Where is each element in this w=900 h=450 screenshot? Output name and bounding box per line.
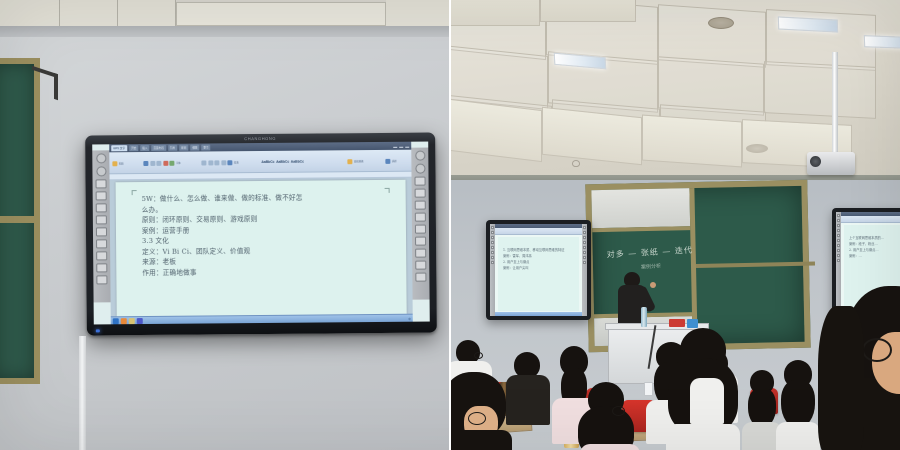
ime-indicator[interactable]: 中	[408, 316, 410, 320]
bullet-list-icon[interactable]	[201, 160, 206, 165]
browser-icon[interactable]	[121, 318, 127, 324]
rail-button-note-icon[interactable]	[96, 191, 107, 200]
rail2-button-home-icon[interactable]	[415, 164, 425, 174]
rail2-button-select-icon[interactable]	[415, 225, 426, 234]
panel-divider	[449, 0, 451, 450]
rail2-button-undo-icon[interactable]	[415, 249, 426, 258]
wps-office-window[interactable]: WPS 文字 开始 插入 页面布局 引用 审阅 视图 章节	[109, 142, 413, 325]
display-brand-logo: CHANGHONG	[244, 135, 276, 140]
ws-l-btn2-icon[interactable]	[583, 261, 586, 264]
close-icon[interactable]	[405, 146, 409, 147]
bold-icon[interactable]	[150, 160, 155, 165]
projector-lens-icon	[810, 156, 821, 167]
tab-view[interactable]: 视图	[190, 145, 199, 151]
screen-right-toolrail[interactable]	[411, 148, 429, 300]
water-bottle	[641, 307, 647, 327]
blue-box	[687, 319, 698, 328]
document-scroll-area[interactable]: 5W：做什么、怎么做、谁来做、做的标准、做不好怎 么办。 原则：闭环原则、交易原…	[110, 178, 413, 317]
highlight-icon[interactable]	[169, 160, 174, 165]
rail-button-save-icon[interactable]	[96, 239, 107, 248]
start-icon[interactable]	[113, 318, 119, 324]
security-camera-icon	[572, 160, 580, 167]
tab-page-layout[interactable]: 页面布局	[151, 145, 165, 151]
chalk-writing-line-1: 对多 — 张纸 — 迭代	[606, 245, 693, 261]
ribbon-group-select-label: 选择	[392, 159, 397, 163]
tab-insert[interactable]: 插入	[140, 145, 149, 151]
student	[690, 358, 724, 424]
margin-mark-topleft-icon	[132, 190, 137, 195]
chalk-writing-line-2: 案例分析	[641, 262, 661, 270]
ceiling-left	[0, 0, 450, 36]
rail2-button-close-icon[interactable]	[415, 273, 426, 282]
margin-mark-topright-icon	[385, 188, 390, 193]
ws-l-ribbon[interactable]	[495, 228, 582, 235]
ws-l-btn-icon[interactable]	[491, 236, 494, 239]
rail2-button-pen-icon[interactable]	[415, 177, 426, 186]
left-photo-panel: CHANGHONG	[0, 0, 450, 450]
rail2-button-shape-icon[interactable]	[415, 213, 426, 222]
ws-l-doc-line: 案例：让用户尖叫	[503, 265, 574, 271]
ws-l-btn-icon[interactable]	[491, 226, 494, 229]
rail2-button-note-icon[interactable]	[415, 189, 426, 198]
ws-l-btn-icon[interactable]	[491, 231, 494, 234]
wps-icon[interactable]	[137, 318, 143, 324]
glasses-icon	[862, 338, 892, 362]
document-page[interactable]: 5W：做什么、怎么做、谁来做、做的标准、做不好怎 么办。 原则：闭环原则、交易原…	[116, 180, 407, 317]
ws-l-btn2-icon[interactable]	[583, 256, 586, 259]
student	[508, 352, 552, 422]
ws-r-btn-icon[interactable]	[837, 219, 840, 222]
ws-r-btn-icon[interactable]	[837, 214, 840, 217]
right-photo-panel: 对多 — 张纸 — 迭代 案例分析	[450, 0, 900, 450]
wall-screen-left-rail2[interactable]	[582, 224, 587, 316]
student	[774, 360, 820, 450]
rail-button-shape-icon[interactable]	[96, 215, 107, 224]
rail-button-redo-icon[interactable]	[96, 263, 107, 272]
rail2-button-eraser-icon[interactable]	[415, 201, 426, 210]
ribbon-group-font-label: 字体	[176, 161, 181, 165]
window-controls[interactable]	[393, 144, 409, 147]
find-replace-icon[interactable]	[347, 159, 352, 164]
ceiling-vent-icon	[746, 144, 768, 153]
ceiling-tile-strip	[176, 2, 386, 26]
board-upper-white-panel	[591, 188, 690, 232]
ws-l-document: 1. 互联网思维本质、移动互联网思维的特征 案例：雷军、周鸿祎 2. 用户至上与…	[498, 237, 579, 311]
ws-l-btn-icon[interactable]	[491, 256, 494, 259]
instructor-hand	[650, 282, 656, 288]
ws-l-btn2-icon[interactable]	[583, 241, 586, 244]
ws-r-btn-icon[interactable]	[837, 259, 840, 262]
rail2-button-menu-icon[interactable]	[415, 151, 425, 161]
student	[574, 382, 640, 450]
wall-screen-left[interactable]: 1. 互联网思维本质、移动互联网思维的特征 案例：雷军、周鸿祎 2. 用户至上与…	[486, 220, 591, 320]
ws-l-btn-icon[interactable]	[491, 251, 494, 254]
ws-l-taskbar[interactable]	[495, 312, 582, 316]
minimize-icon[interactable]	[393, 146, 397, 147]
ws-r-btn-icon[interactable]	[837, 249, 840, 252]
rail-button-undo-icon[interactable]	[96, 251, 107, 260]
ribbon-group-paste-label: 粘贴	[119, 161, 124, 165]
align-center-icon[interactable]	[221, 160, 226, 165]
split-photo-stage: CHANGHONG	[0, 0, 900, 450]
style-sample-0[interactable]: AaBbCc	[261, 160, 274, 164]
student-foreground	[828, 286, 900, 450]
tab-references[interactable]: 引用	[168, 145, 177, 151]
ws-r-btn-icon[interactable]	[837, 229, 840, 232]
tab-sections[interactable]: 章节	[201, 144, 210, 150]
ribbon-group-find-label: 查找替换	[354, 159, 364, 163]
rail2-button-save-icon[interactable]	[415, 237, 426, 246]
ceiling-speaker-icon	[708, 17, 734, 29]
folder-icon[interactable]	[129, 318, 135, 324]
font-icon[interactable]	[143, 160, 148, 165]
tab-start[interactable]: 开始	[129, 145, 138, 151]
rail-button-close-icon[interactable]	[96, 275, 107, 284]
ws-r-doc-line: 案例：…	[849, 253, 900, 259]
system-tray[interactable]: 中	[408, 316, 410, 320]
screen-left-toolrail[interactable]	[92, 150, 110, 302]
paste-icon[interactable]	[112, 161, 117, 166]
student-foreground	[450, 372, 512, 450]
ws-l-btn2-icon[interactable]	[583, 246, 586, 249]
rail-button-menu-icon[interactable]	[96, 153, 106, 163]
ws-l-btn2-icon[interactable]	[583, 236, 586, 239]
display-screen[interactable]: WPS 文字 开始 插入 页面布局 引用 审阅 视图 章节	[92, 142, 430, 325]
rail-button-eraser-icon[interactable]	[96, 203, 107, 212]
interactive-smart-display[interactable]: CHANGHONG	[85, 132, 437, 335]
chalkboard-left-edge	[0, 58, 40, 384]
ribbon-group-paragraph-label: 段落	[234, 160, 239, 164]
board-horizontal-rail	[696, 262, 815, 268]
glasses-icon	[612, 406, 625, 416]
rail2-button-redo-icon[interactable]	[415, 261, 426, 270]
ws-r-btn-icon[interactable]	[837, 254, 840, 257]
cable-conduit	[79, 336, 86, 450]
red-box	[669, 319, 685, 327]
select-icon[interactable]	[385, 158, 390, 163]
glasses-icon	[468, 412, 486, 425]
glasses-icon	[474, 352, 483, 359]
style-sample-2[interactable]: AaBbCc	[291, 160, 304, 164]
ws-l-btn2-icon[interactable]	[583, 231, 586, 234]
maximize-icon[interactable]	[399, 146, 403, 147]
ws-r-btn-icon[interactable]	[837, 234, 840, 237]
wps-ribbon[interactable]: 粘贴 字体	[109, 150, 411, 175]
ws-l-btn-icon[interactable]	[491, 261, 494, 264]
rail-button-pen-icon[interactable]	[96, 179, 107, 188]
ws-r-btn-icon[interactable]	[837, 244, 840, 247]
tab-wps-wenzi[interactable]: WPS 文字	[111, 145, 127, 151]
ws-l-btn2-icon[interactable]	[583, 251, 586, 254]
style-sample-1[interactable]: AaBbCc	[276, 160, 289, 164]
ws-r-btn-icon[interactable]	[837, 224, 840, 227]
line-spacing-icon[interactable]	[227, 160, 232, 165]
ws-l-btn-icon[interactable]	[491, 241, 494, 244]
ceiling-light-icon	[864, 35, 900, 49]
align-left-icon[interactable]	[214, 160, 219, 165]
ws-r-btn-icon[interactable]	[837, 239, 840, 242]
ws-r-ribbon[interactable]	[841, 216, 900, 223]
rail-button-home-icon[interactable]	[96, 166, 106, 176]
projector-mount-pole	[832, 52, 838, 157]
numbered-list-icon[interactable]	[208, 160, 213, 165]
rail-button-select-icon[interactable]	[96, 227, 107, 236]
italic-icon[interactable]	[156, 160, 161, 165]
tab-review[interactable]: 审阅	[179, 145, 188, 151]
ws-l-btn-icon[interactable]	[491, 246, 494, 249]
font-color-icon[interactable]	[163, 160, 168, 165]
power-led-icon	[96, 329, 100, 332]
ws-l-btn2-icon[interactable]	[583, 226, 586, 229]
doc-line: 作用：正确地做事	[142, 265, 388, 278]
